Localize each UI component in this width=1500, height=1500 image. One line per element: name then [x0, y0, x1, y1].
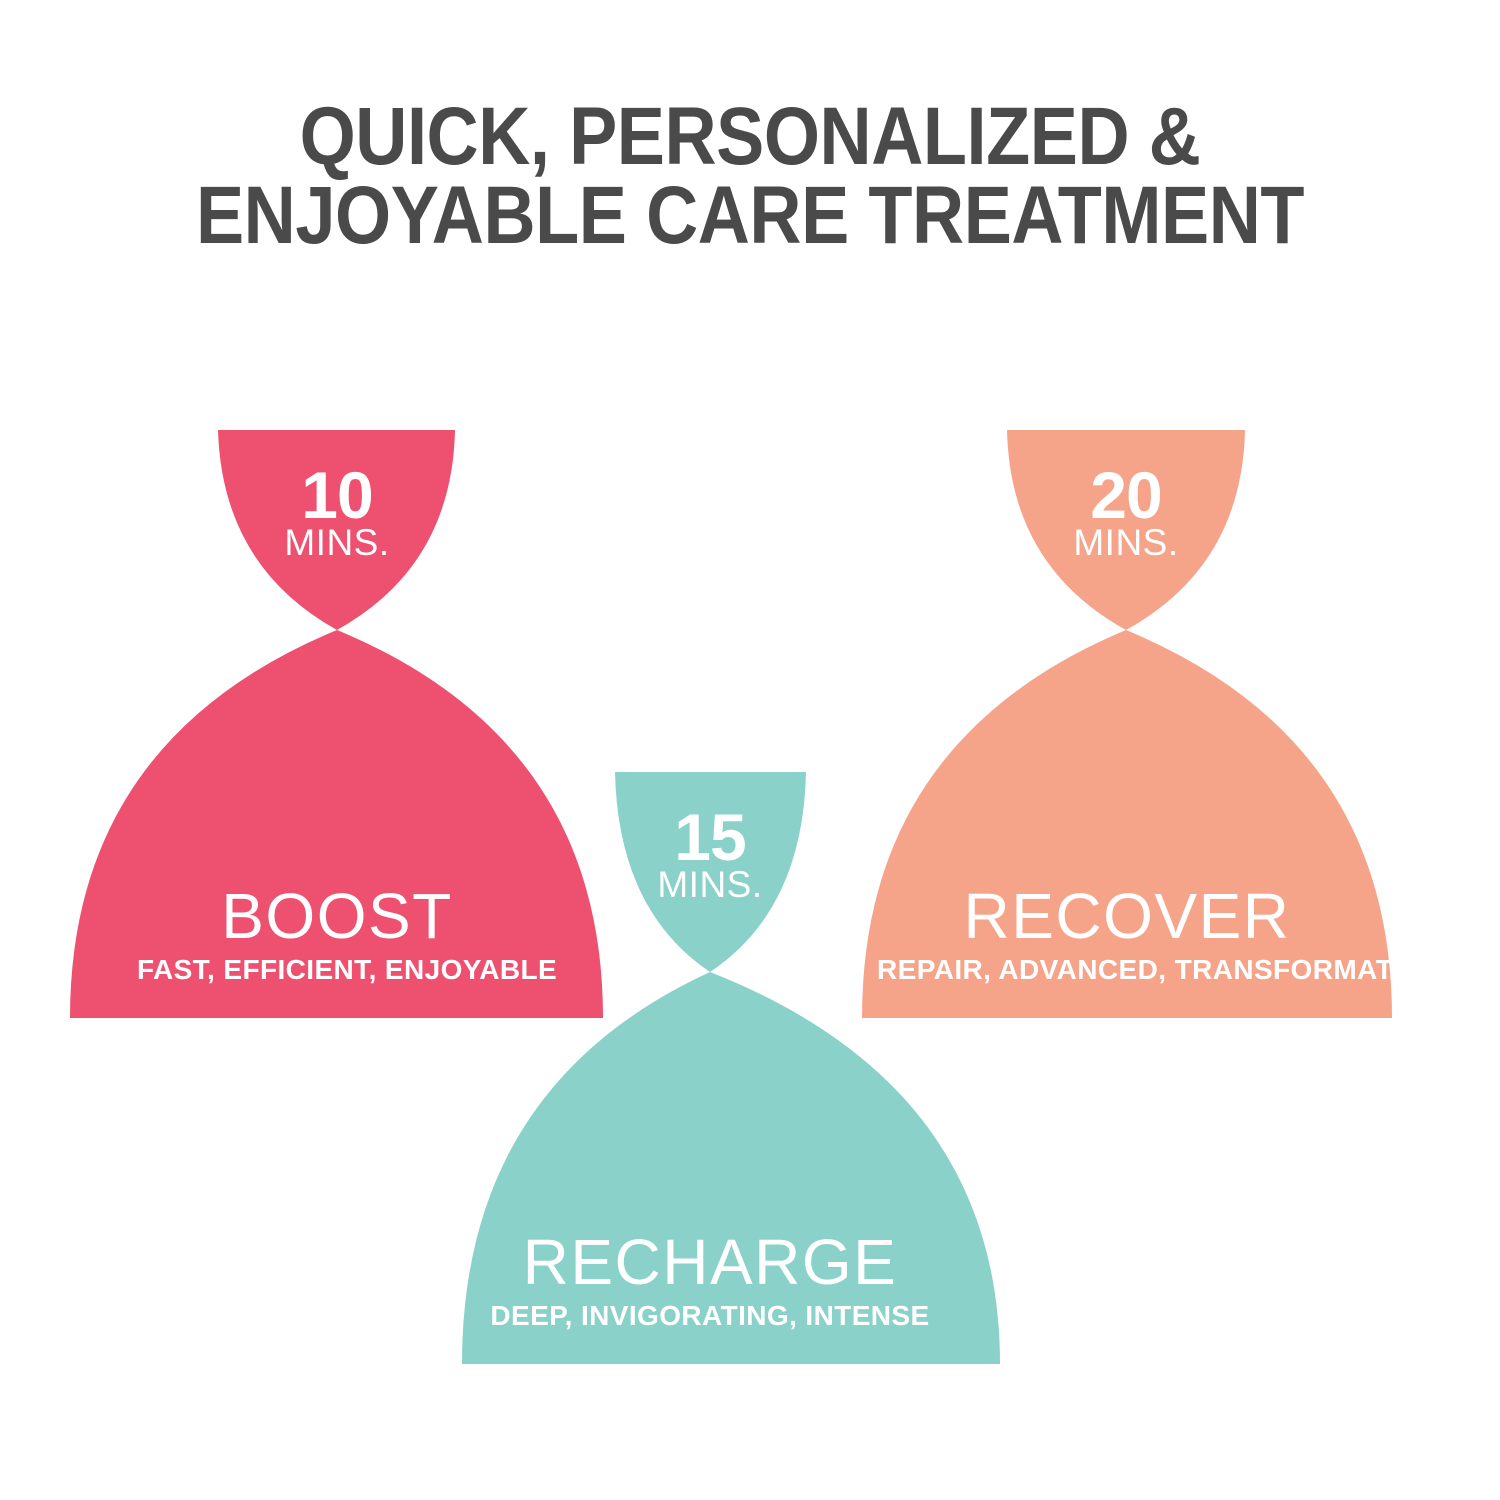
duration-badge-boost: 10 MINS. [187, 462, 487, 561]
item-tagline-recover: REPAIR, ADVANCED, TRANSFORMATIVE [877, 956, 1377, 984]
duration-unit-boost: MINS. [187, 524, 487, 561]
item-tagline-recharge: DEEP, INVIGORATING, INTENSE [481, 1302, 939, 1330]
duration-badge-recharge: 15 MINS. [560, 804, 860, 903]
duration-value-recharge: 15 [560, 804, 860, 870]
label-group-boost: BOOST FAST, EFFICIENT, ENJOYABLE [137, 884, 537, 984]
duration-unit-recover: MINS. [976, 524, 1276, 561]
duration-value-boost: 10 [187, 462, 487, 528]
item-name-boost: BOOST [137, 884, 537, 948]
duration-unit-recharge: MINS. [560, 866, 860, 903]
duration-value-recover: 20 [976, 462, 1276, 528]
item-tagline-boost: FAST, EFFICIENT, ENJOYABLE [137, 956, 537, 984]
item-name-recover: RECOVER [877, 884, 1377, 948]
duration-badge-recover: 20 MINS. [976, 462, 1276, 561]
label-group-recharge: RECHARGE DEEP, INVIGORATING, INTENSE [481, 1230, 939, 1330]
item-name-recharge: RECHARGE [481, 1230, 939, 1294]
infographic-canvas: QUICK, PERSONALIZED & ENJOYABLE CARE TRE… [0, 0, 1500, 1500]
label-group-recover: RECOVER REPAIR, ADVANCED, TRANSFORMATIVE [877, 884, 1377, 984]
